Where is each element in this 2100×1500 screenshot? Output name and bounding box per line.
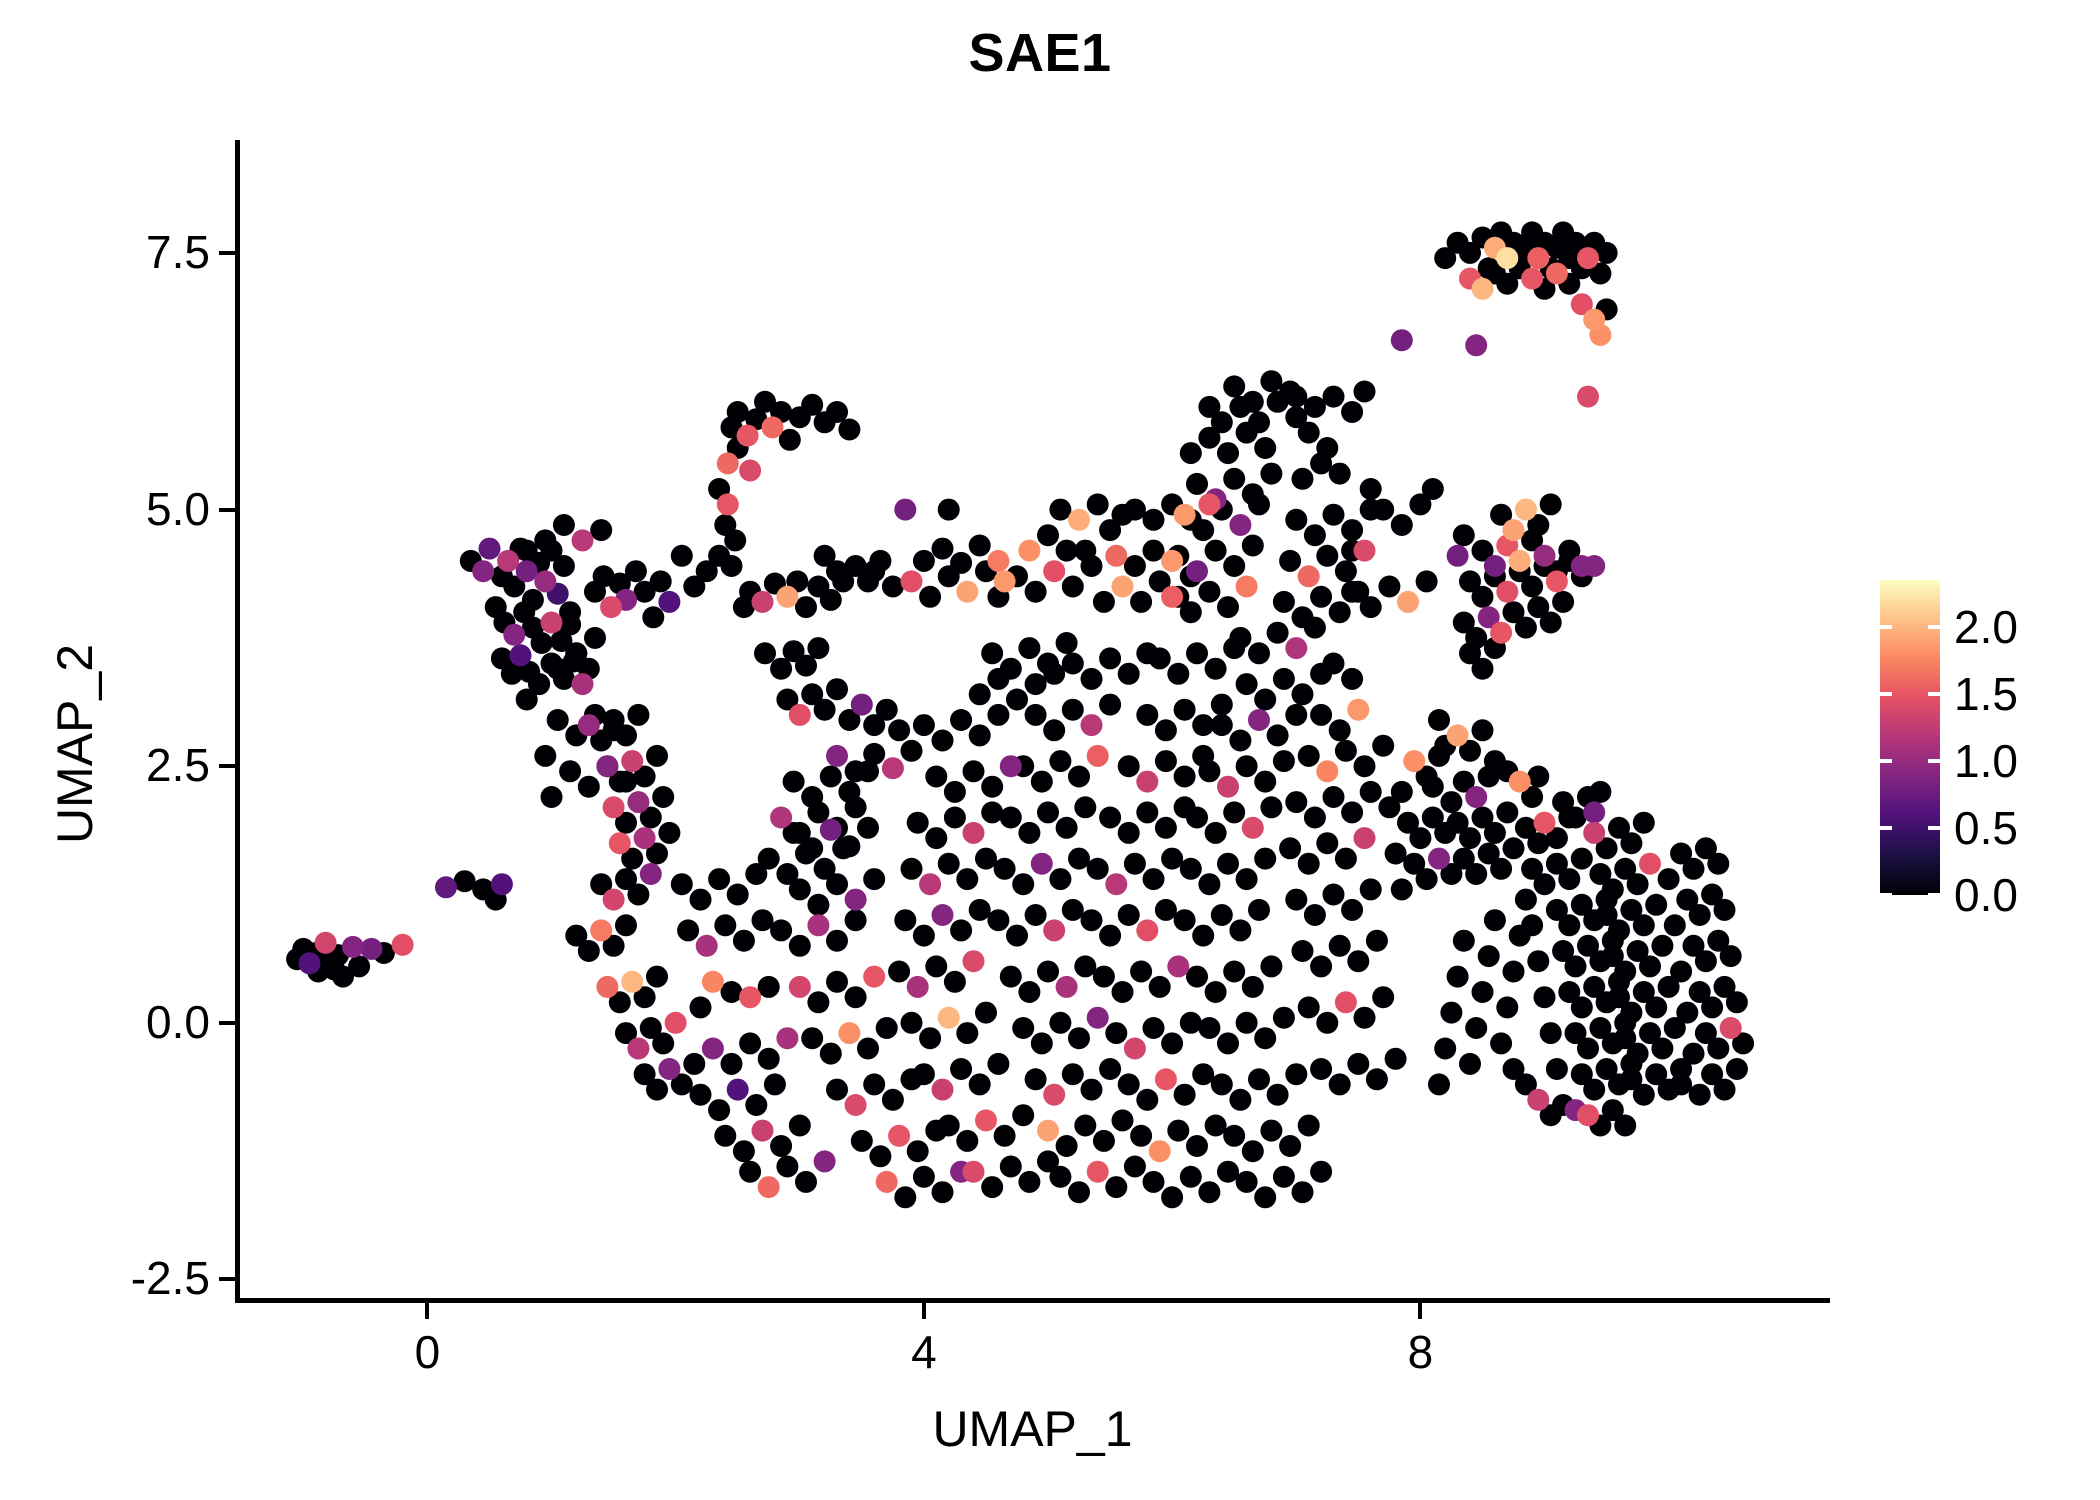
scatter-point: [1223, 468, 1245, 490]
scatter-point: [807, 914, 829, 936]
scatter-point: [1298, 565, 1320, 587]
scatter-point: [1465, 334, 1487, 356]
scatter-point: [1459, 827, 1481, 849]
scatter-point: [559, 760, 581, 782]
scatter-point: [1583, 909, 1605, 931]
scatter-point: [652, 786, 674, 808]
scatter-point: [1285, 509, 1307, 531]
scatter-point: [963, 760, 985, 782]
plot-title-text: SAE1: [968, 22, 1111, 84]
y-tick-mark: [219, 1021, 235, 1025]
scatter-point: [1105, 1022, 1127, 1044]
scatter-point: [1198, 581, 1220, 603]
scatter-point: [1031, 1032, 1053, 1054]
scatter-point: [1229, 730, 1251, 752]
scatter-point: [1260, 463, 1282, 485]
legend-tick-mark: [1880, 893, 1892, 897]
scatter-point: [621, 750, 643, 772]
scatter-point: [646, 1079, 668, 1101]
scatter-point: [1242, 1140, 1264, 1162]
scatter-point: [1354, 755, 1376, 777]
scatter-point: [907, 812, 929, 834]
scatter-point: [913, 714, 935, 736]
x-tick-label: 4: [844, 1325, 1004, 1379]
scatter-point: [1236, 868, 1258, 890]
scatter-point: [826, 1079, 848, 1101]
scatter-point: [1496, 581, 1518, 603]
scatter-point: [690, 1084, 712, 1106]
scatter-point: [1093, 966, 1115, 988]
scatter-point: [1174, 766, 1196, 788]
scatter-point: [1577, 386, 1599, 408]
legend-label: 2.0: [1954, 604, 2018, 650]
scatter-point: [1422, 776, 1444, 798]
scatter-point: [919, 1027, 941, 1049]
scatter-point: [1260, 370, 1282, 392]
scatter-point: [1298, 1115, 1320, 1137]
scatter-point: [1062, 899, 1084, 921]
scatter-point: [299, 952, 321, 974]
legend-tick-mark: [1928, 893, 1940, 897]
scatter-point: [1081, 1079, 1103, 1101]
scatter-point: [1155, 817, 1177, 839]
scatter-point: [1273, 750, 1295, 772]
scatter-point: [708, 1099, 730, 1121]
scatter-point: [1031, 853, 1053, 875]
scatter-point: [1608, 971, 1630, 993]
scatter-point: [658, 591, 680, 613]
scatter-point: [1472, 719, 1494, 741]
scatter-point: [987, 704, 1009, 726]
scatter-point: [615, 771, 637, 793]
scatter-point: [1198, 873, 1220, 895]
scatter-point: [534, 529, 556, 551]
scatter-point: [1670, 1073, 1692, 1095]
y-tick-mark: [219, 508, 235, 512]
x-axis-line: [235, 1298, 1830, 1303]
scatter-point: [1254, 437, 1276, 459]
scatter-point: [1130, 591, 1152, 613]
scatter-point: [1198, 760, 1220, 782]
scatter-point: [807, 637, 829, 659]
scatter-point: [1093, 591, 1115, 613]
scatter-point: [721, 981, 743, 1003]
scatter-point: [1304, 396, 1326, 418]
scatter-point: [690, 889, 712, 911]
scatter-point: [1143, 1171, 1165, 1193]
scatter-point: [342, 936, 364, 958]
scatter-point: [702, 971, 724, 993]
scatter-point: [1279, 1135, 1301, 1157]
scatter-point: [702, 1038, 724, 1060]
scatter-point: [1472, 658, 1494, 680]
scatter-point: [1540, 1022, 1562, 1044]
scatter-point: [1099, 1058, 1121, 1080]
scatter-point: [1447, 545, 1469, 567]
scatter-point: [894, 1186, 916, 1208]
scatter-point: [1211, 904, 1233, 926]
x-tick-label: 8: [1340, 1325, 1500, 1379]
scatter-point: [1000, 966, 1022, 988]
scatter-point: [1695, 950, 1717, 972]
scatter-point: [1347, 1053, 1369, 1075]
scatter-point: [1118, 904, 1140, 926]
scatter-point: [690, 996, 712, 1018]
scatter-point: [956, 868, 978, 890]
scatter-point: [1248, 411, 1270, 433]
scatter-point: [1149, 1140, 1171, 1162]
scatter-point: [1074, 1115, 1096, 1137]
scatter-point: [627, 791, 649, 813]
scatter-point: [1472, 586, 1494, 608]
scatter-point: [901, 858, 923, 880]
scatter-point: [1490, 622, 1512, 644]
scatter-point: [1136, 704, 1158, 726]
scatter-point: [944, 807, 966, 829]
scatter-point: [1130, 961, 1152, 983]
scatter-point: [1465, 1017, 1487, 1039]
scatter-point: [472, 560, 494, 582]
scatter-point: [1558, 914, 1580, 936]
scatter-point: [1043, 1084, 1065, 1106]
scatter-point: [789, 822, 811, 844]
scatter-point: [1068, 1027, 1090, 1049]
scatter-point: [1285, 1063, 1307, 1085]
scatter-point: [1155, 899, 1177, 921]
scatter-point: [1285, 889, 1307, 911]
y-axis-line: [235, 140, 240, 1303]
scatter-point: [1316, 760, 1338, 782]
scatter-point: [1229, 1089, 1251, 1111]
scatter-point: [1062, 576, 1084, 598]
scatter-point: [1540, 612, 1562, 634]
scatter-point: [737, 425, 759, 447]
x-tick-mark: [922, 1303, 926, 1319]
scatter-point: [845, 909, 867, 931]
legend-tick-mark: [1928, 625, 1940, 629]
scatter-point: [851, 1130, 873, 1152]
scatter-point: [1186, 473, 1208, 495]
scatter-point: [987, 550, 1009, 572]
scatter-point: [994, 1125, 1016, 1147]
scatter-point: [1565, 807, 1587, 829]
scatter-point: [913, 550, 935, 572]
scatter-point: [770, 1135, 792, 1157]
scatter-point: [838, 1022, 860, 1044]
scatter-point: [1217, 1161, 1239, 1183]
scatter-point: [1074, 955, 1096, 977]
scatter-point: [1596, 991, 1618, 1013]
scatter-point: [1025, 1068, 1047, 1090]
scatter-point: [1205, 981, 1227, 1003]
scatter-point: [1720, 945, 1742, 967]
scatter-point: [826, 971, 848, 993]
scatter-point: [1081, 909, 1103, 931]
scatter-point: [1248, 1068, 1270, 1090]
scatter-point: [814, 699, 836, 721]
scatter-point: [1627, 873, 1649, 895]
scatter-point: [932, 904, 954, 926]
scatter-point: [1236, 755, 1258, 777]
scatter-point: [1341, 801, 1363, 823]
scatter-point: [869, 1145, 891, 1167]
scatter-point: [1651, 1038, 1673, 1060]
scatter-point: [1503, 837, 1525, 859]
scatter-point: [938, 499, 960, 521]
scatter-point: [1323, 504, 1345, 526]
scatter-point: [1602, 930, 1624, 952]
scatter-point: [795, 843, 817, 865]
scatter-point: [1416, 570, 1438, 592]
scatter-point: [717, 493, 739, 515]
scatter-point: [1645, 996, 1667, 1018]
scatter-point: [1633, 1084, 1655, 1106]
scatter-point: [1112, 576, 1134, 598]
scatter-point: [1254, 1027, 1276, 1049]
scatter-point: [739, 1161, 761, 1183]
scatter-point: [1217, 853, 1239, 875]
scatter-point: [913, 925, 935, 947]
scatter-point: [1236, 1171, 1258, 1193]
scatter-point: [1546, 570, 1568, 592]
scatter-point: [1260, 955, 1282, 977]
scatter-point: [531, 632, 553, 654]
scatter-point: [770, 807, 792, 829]
scatter-points-layer: [235, 140, 1830, 1300]
scatter-point: [714, 1125, 736, 1147]
scatter-point: [1217, 442, 1239, 464]
scatter-point: [956, 1022, 978, 1044]
scatter-point: [1292, 940, 1314, 962]
scatter-point: [1099, 807, 1121, 829]
scatter-point: [1180, 601, 1202, 623]
scatter-point: [1167, 955, 1189, 977]
scatter-point: [820, 1043, 842, 1065]
scatter-point: [739, 1032, 761, 1054]
scatter-point: [1081, 668, 1103, 690]
scatter-point: [1285, 704, 1307, 726]
scatter-point: [1714, 1079, 1736, 1101]
scatter-point: [981, 801, 1003, 823]
scatter-point: [1186, 807, 1208, 829]
scatter-point: [727, 1079, 749, 1101]
scatter-point: [981, 1176, 1003, 1198]
scatter-point: [646, 966, 668, 988]
scatter-point: [845, 796, 867, 818]
scatter-point: [1416, 868, 1438, 890]
scatter-point: [851, 694, 873, 716]
scatter-point: [1459, 1053, 1481, 1075]
scatter-point: [845, 986, 867, 1008]
scatter-point: [1099, 694, 1121, 716]
scatter-point: [1347, 699, 1369, 721]
scatter-point: [1143, 868, 1165, 890]
scatter-point: [1217, 776, 1239, 798]
scatter-point: [845, 889, 867, 911]
scatter-point: [1254, 771, 1276, 793]
scatter-point: [1279, 837, 1301, 859]
scatter-point: [1006, 689, 1028, 711]
scatter-point: [981, 776, 1003, 798]
scatter-point: [1018, 1171, 1040, 1193]
scatter-point: [963, 950, 985, 972]
scatter-point: [658, 822, 680, 844]
scatter-point: [1062, 653, 1084, 675]
scatter-point: [857, 1038, 879, 1060]
scatter-point: [789, 704, 811, 726]
scatter-point: [1273, 668, 1295, 690]
scatter-point: [1143, 1017, 1165, 1039]
scatter-point: [541, 612, 563, 634]
scatter-point: [1217, 596, 1239, 618]
scatter-point: [516, 689, 538, 711]
scatter-point: [932, 1181, 954, 1203]
scatter-point: [776, 863, 798, 885]
scatter-point: [1242, 976, 1264, 998]
scatter-point: [975, 1002, 997, 1024]
y-tick-mark: [219, 251, 235, 255]
scatter-point: [1186, 642, 1208, 664]
scatter-point: [1087, 1007, 1109, 1029]
scatter-point: [1391, 329, 1413, 351]
scatter-point: [1403, 750, 1425, 772]
scatter-point: [1217, 1032, 1239, 1054]
scatter-point: [1329, 601, 1351, 623]
scatter-point: [994, 858, 1016, 880]
scatter-point: [1124, 555, 1146, 577]
scatter-point: [1186, 1135, 1208, 1157]
scatter-point: [1248, 493, 1270, 515]
scatter-point: [1503, 1058, 1525, 1080]
scatter-point: [913, 1063, 935, 1085]
scatter-point: [1068, 848, 1090, 870]
scatter-point: [739, 460, 761, 482]
scatter-point: [733, 1140, 755, 1162]
scatter-point: [1335, 560, 1357, 582]
scatter-point: [876, 1017, 898, 1039]
scatter-point: [1323, 786, 1345, 808]
scatter-point: [1304, 524, 1326, 546]
scatter-point: [1248, 642, 1270, 664]
scatter-point: [969, 899, 991, 921]
scatter-point: [1620, 832, 1642, 854]
scatter-point: [1577, 1104, 1599, 1126]
scatter-point: [1025, 704, 1047, 726]
scatter-point: [863, 1073, 885, 1095]
scatter-point: [671, 545, 693, 567]
x-tick-label: 0: [347, 1325, 507, 1379]
color-legend: 0.00.51.01.52.0: [1880, 580, 2080, 900]
scatter-point: [882, 757, 904, 779]
scatter-point: [721, 555, 743, 577]
scatter-point: [1143, 509, 1165, 531]
scatter-point: [752, 909, 774, 931]
scatter-point: [894, 909, 916, 931]
page-title: SAE1: [0, 22, 2100, 84]
scatter-point: [1006, 925, 1028, 947]
scatter-point: [1155, 750, 1177, 772]
scatter-point: [1391, 878, 1413, 900]
scatter-point: [1534, 873, 1556, 895]
scatter-point: [1496, 996, 1518, 1018]
scatter-point: [1236, 673, 1258, 695]
scatter-point: [758, 976, 780, 998]
scatter-point: [609, 832, 631, 854]
scatter-point: [1633, 812, 1655, 834]
scatter-point: [733, 930, 755, 952]
scatter-point: [590, 519, 612, 541]
scatter-point: [814, 858, 836, 880]
scatter-point: [1248, 899, 1270, 921]
scatter-point: [1720, 1017, 1742, 1039]
scatter-point: [1596, 889, 1618, 911]
scatter-point: [1018, 540, 1040, 562]
scatter-point: [1081, 714, 1103, 736]
scatter-point: [1683, 858, 1705, 880]
scatter-point: [814, 545, 836, 567]
scatter-point: [1018, 981, 1040, 1003]
scatter-point: [708, 868, 730, 890]
scatter-point: [1192, 1063, 1214, 1085]
scatter-point: [1012, 873, 1034, 895]
scatter-point: [795, 1171, 817, 1193]
scatter-point: [1546, 1058, 1568, 1080]
scatter-point: [1198, 1017, 1220, 1039]
scatter-point: [1509, 771, 1531, 793]
scatter-point: [727, 884, 749, 906]
scatter-point: [1149, 647, 1171, 669]
scatter-point: [925, 766, 947, 788]
scatter-point: [857, 817, 879, 839]
scatter-point: [1062, 1063, 1084, 1085]
scatter-point: [1074, 796, 1096, 818]
scatter-point: [1012, 1104, 1034, 1126]
scatter-point: [1310, 955, 1332, 977]
scatter-point: [1527, 1089, 1549, 1111]
x-tick-mark: [425, 1303, 429, 1319]
scatter-point: [1428, 848, 1450, 870]
legend-tick-mark: [1880, 826, 1892, 830]
scatter-point: [627, 884, 649, 906]
scatter-point: [1186, 560, 1208, 582]
scatter-point: [1316, 1012, 1338, 1034]
scatter-point: [1049, 499, 1071, 521]
scatter-point: [938, 853, 960, 875]
scatter-point: [1472, 981, 1494, 1003]
scatter-point: [503, 624, 525, 646]
scatter-point: [1366, 1068, 1388, 1090]
scatter-point: [1112, 981, 1134, 1003]
scatter-point: [553, 514, 575, 536]
scatter-point: [1428, 709, 1450, 731]
scatter-point: [1341, 401, 1363, 423]
scatter-point: [1229, 919, 1251, 941]
scatter-point: [1049, 1166, 1071, 1188]
scatter-point: [1397, 591, 1419, 613]
scatter-point: [1223, 801, 1245, 823]
scatter-point: [1031, 771, 1053, 793]
scatter-point: [547, 658, 569, 680]
scatter-point: [762, 416, 784, 438]
x-axis-title: UMAP_1: [235, 1400, 1830, 1458]
scatter-point: [1087, 745, 1109, 767]
scatter-point: [1304, 904, 1326, 926]
scatter-point: [907, 976, 929, 998]
scatter-point: [1211, 694, 1233, 716]
scatter-point: [1360, 596, 1382, 618]
scatter-point: [789, 935, 811, 957]
scatter-point: [1440, 1002, 1462, 1024]
